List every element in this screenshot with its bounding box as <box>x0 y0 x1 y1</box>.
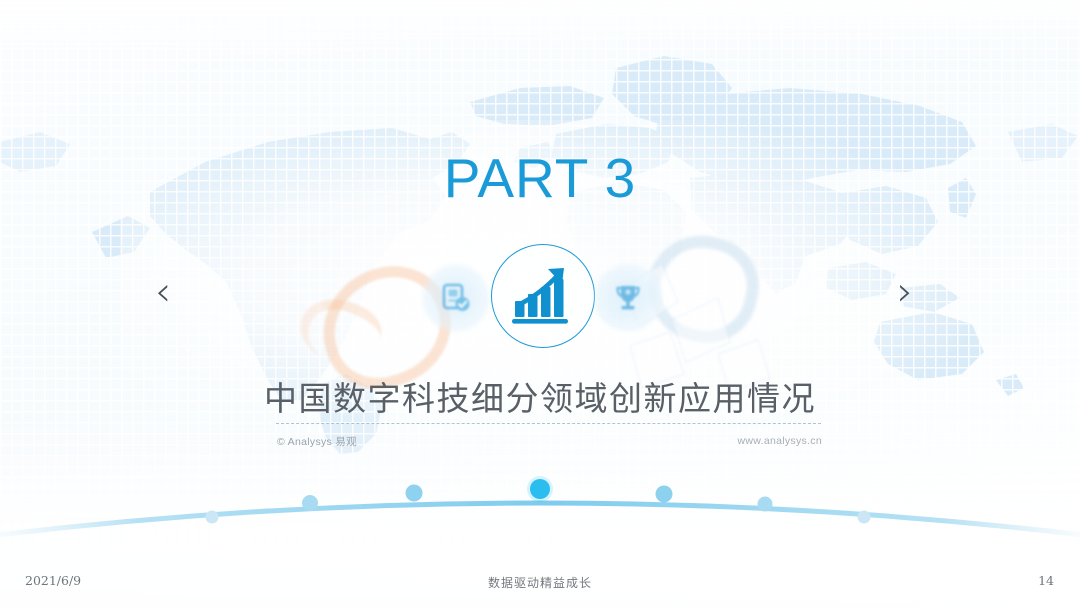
orange-swirl-watermark-secondary <box>291 286 389 375</box>
progress-arc <box>0 455 1080 545</box>
progress-dot[interactable] <box>858 511 871 524</box>
progress-dot[interactable] <box>758 497 773 512</box>
copyright-credit: © Analysys 易观 <box>277 434 357 449</box>
map-top-fade <box>0 0 1080 60</box>
next-slide-arrow[interactable]: › <box>897 272 913 312</box>
progress-dot[interactable] <box>656 486 673 503</box>
bar-chart-growth-icon <box>491 244 595 348</box>
arc-line <box>0 455 1080 545</box>
progress-dot[interactable] <box>206 511 219 524</box>
document-check-icon <box>420 262 492 334</box>
progress-dot-active[interactable] <box>530 479 550 499</box>
website-url: www.analysys.cn <box>738 435 822 447</box>
slide-canvas: PART 3 <box>0 0 1080 608</box>
page-title: PART 3 <box>0 151 1080 206</box>
footer-page-number: 14 <box>1038 573 1054 588</box>
prev-slide-arrow[interactable]: ‹ <box>155 272 171 312</box>
progress-dot[interactable] <box>406 485 423 502</box>
icon-cluster <box>400 244 680 354</box>
section-title: 中国数字科技细分领域创新应用情况 <box>0 372 1080 420</box>
trophy-icon <box>592 262 664 334</box>
divider <box>276 423 821 424</box>
progress-dot[interactable] <box>302 495 318 511</box>
footer: 2021/6/9 数据驱动精益成长 14 <box>0 562 1080 608</box>
footer-tagline: 数据驱动精益成长 <box>0 574 1080 591</box>
